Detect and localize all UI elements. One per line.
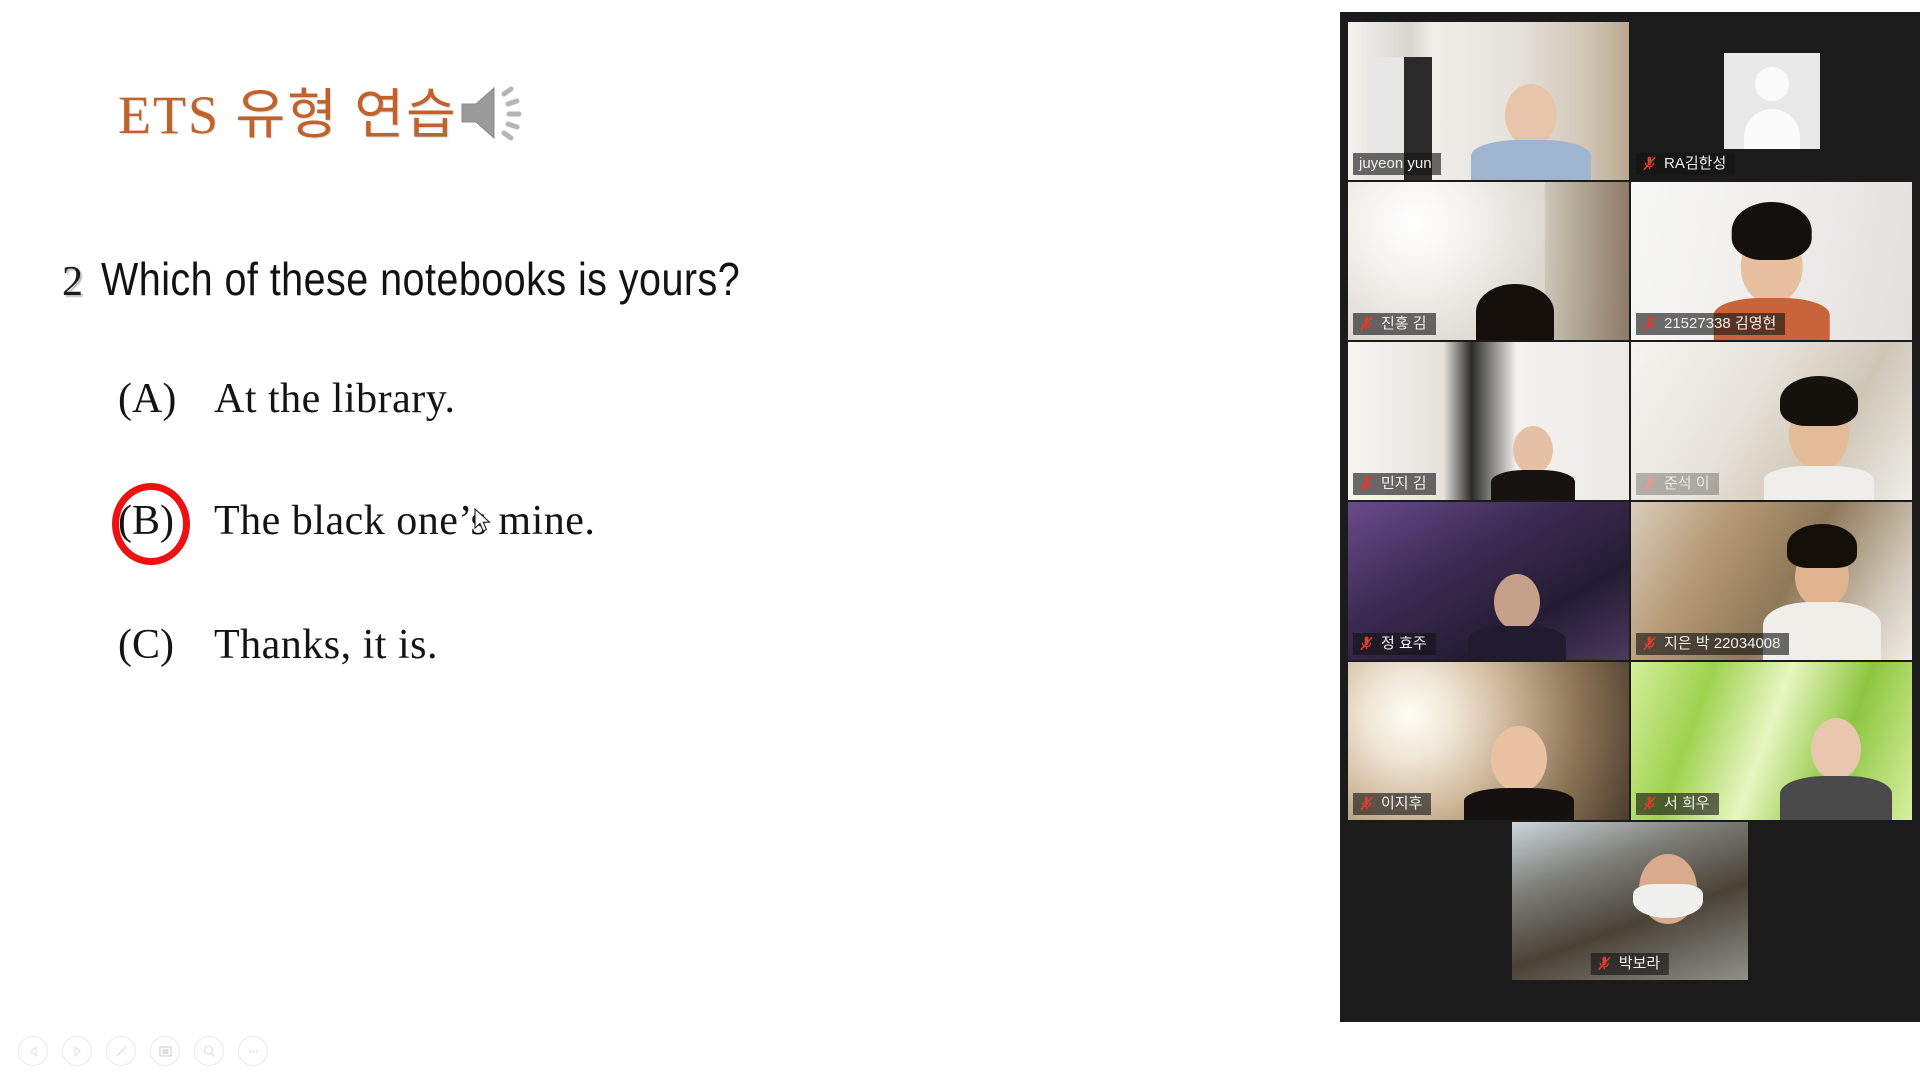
next-slide-button[interactable] — [62, 1036, 92, 1066]
participant-name: 21527338 김영현 — [1664, 316, 1776, 331]
mute-microphone-icon — [1642, 156, 1657, 171]
question-row: 2 Which of these notebooks is yours? — [62, 252, 844, 306]
participant-silhouette — [1755, 374, 1884, 500]
participant-name-badge: 진홍 김 — [1353, 313, 1436, 335]
participant-tile[interactable]: 박보라 — [1348, 822, 1912, 980]
participant-silhouette — [1449, 556, 1584, 660]
participant-name-badge: RA김한성 — [1636, 153, 1735, 175]
participant-name-badge: 이지후 — [1353, 793, 1431, 815]
participant-tile[interactable]: 21527338 김영현 — [1631, 182, 1912, 340]
mute-microphone-icon — [1642, 476, 1657, 491]
participant-name-badge: 지은 박 22034008 — [1636, 633, 1789, 655]
choice-c-text: Thanks, it is. — [214, 621, 438, 669]
participant-tile[interactable]: 정 효주 — [1348, 502, 1629, 660]
question-text: Which of these notebooks is yours? — [101, 252, 740, 306]
answer-choice-c[interactable]: (C) Thanks, it is. — [118, 621, 438, 669]
participant-name: 박보라 — [1619, 956, 1660, 971]
participant-name: 이지후 — [1381, 796, 1422, 811]
mute-microphone-icon — [1359, 476, 1374, 491]
avatar — [1724, 53, 1820, 149]
participant-name: 정 효주 — [1381, 636, 1427, 651]
participant-name-badge: 서 희우 — [1636, 793, 1719, 815]
mute-microphone-icon — [1642, 796, 1657, 811]
pen-annotation-button[interactable] — [106, 1036, 136, 1066]
choice-a-label: (A) — [118, 375, 214, 423]
participant-silhouette — [1449, 82, 1612, 180]
participant-tile[interactable]: 이지후 — [1348, 662, 1629, 820]
participant-name: 진홍 김 — [1381, 316, 1427, 331]
participant-name: 지은 박 22034008 — [1664, 636, 1780, 651]
video-conference-panel: juyeon yun RA김한성 — [1340, 12, 1920, 1022]
participant-name-badge: 민지 김 — [1353, 473, 1436, 495]
participant-silhouette — [1766, 681, 1907, 820]
previous-slide-button[interactable] — [18, 1036, 48, 1066]
choice-c-label: (C) — [118, 621, 214, 669]
participant-tile[interactable]: 준석 이 — [1631, 342, 1912, 500]
participant-name: 준석 이 — [1664, 476, 1710, 491]
mute-microphone-icon — [1642, 636, 1657, 651]
more-options-button[interactable] — [238, 1036, 268, 1066]
mouse-cursor-icon — [474, 508, 492, 534]
choice-b-label: (B) — [118, 497, 214, 545]
participant-silhouette — [1449, 703, 1590, 820]
participant-tile[interactable]: 진홍 김 — [1348, 182, 1629, 340]
participant-tile[interactable]: RA김한성 — [1631, 22, 1912, 180]
mute-microphone-icon — [1597, 956, 1612, 971]
participant-tile[interactable]: juyeon yun — [1348, 22, 1629, 180]
mute-microphone-icon — [1359, 316, 1374, 331]
participant-name: juyeon yun — [1359, 156, 1432, 171]
presentation-slide: ETS 유형 연습 2 Which of these notebooks is … — [0, 0, 1340, 1080]
participant-name-badge: 준석 이 — [1636, 473, 1719, 495]
participant-name-badge: juyeon yun — [1353, 153, 1441, 175]
page-title: ETS 유형 연습 — [118, 70, 458, 149]
speaker-sound-icon[interactable] — [458, 78, 538, 148]
participant-silhouette — [1472, 415, 1596, 500]
slideshow-toolbar[interactable] — [18, 1036, 268, 1066]
participant-name: RA김한성 — [1664, 156, 1726, 171]
answer-choice-a[interactable]: (A) At the library. — [118, 375, 456, 423]
participant-silhouette — [1452, 293, 1578, 340]
participant-tile[interactable]: 민지 김 — [1348, 342, 1629, 500]
participant-name: 서 희우 — [1664, 796, 1710, 811]
question-number: 2 — [62, 258, 83, 306]
zoom-button[interactable] — [194, 1036, 224, 1066]
participant-name-badge: 21527338 김영현 — [1636, 313, 1785, 335]
mute-microphone-icon — [1359, 796, 1374, 811]
answer-choice-b[interactable]: (B) The black one’s mine. — [118, 497, 595, 545]
choice-a-text: At the library. — [214, 375, 456, 423]
participant-tile[interactable]: 지은 박 22034008 — [1631, 502, 1912, 660]
mute-microphone-icon — [1359, 636, 1374, 651]
participant-grid: juyeon yun RA김한성 — [1348, 22, 1912, 980]
participant-name-badge: 박보라 — [1591, 953, 1669, 975]
screen-root: ETS 유형 연습 2 Which of these notebooks is … — [0, 0, 1920, 1080]
participant-tile[interactable]: 서 희우 — [1631, 662, 1912, 820]
choice-b-text: The black one’s mine. — [214, 497, 595, 545]
mute-microphone-icon — [1642, 316, 1657, 331]
participant-name: 민지 김 — [1381, 476, 1427, 491]
participant-name-badge: 정 효주 — [1353, 633, 1436, 655]
slide-overview-button[interactable] — [150, 1036, 180, 1066]
